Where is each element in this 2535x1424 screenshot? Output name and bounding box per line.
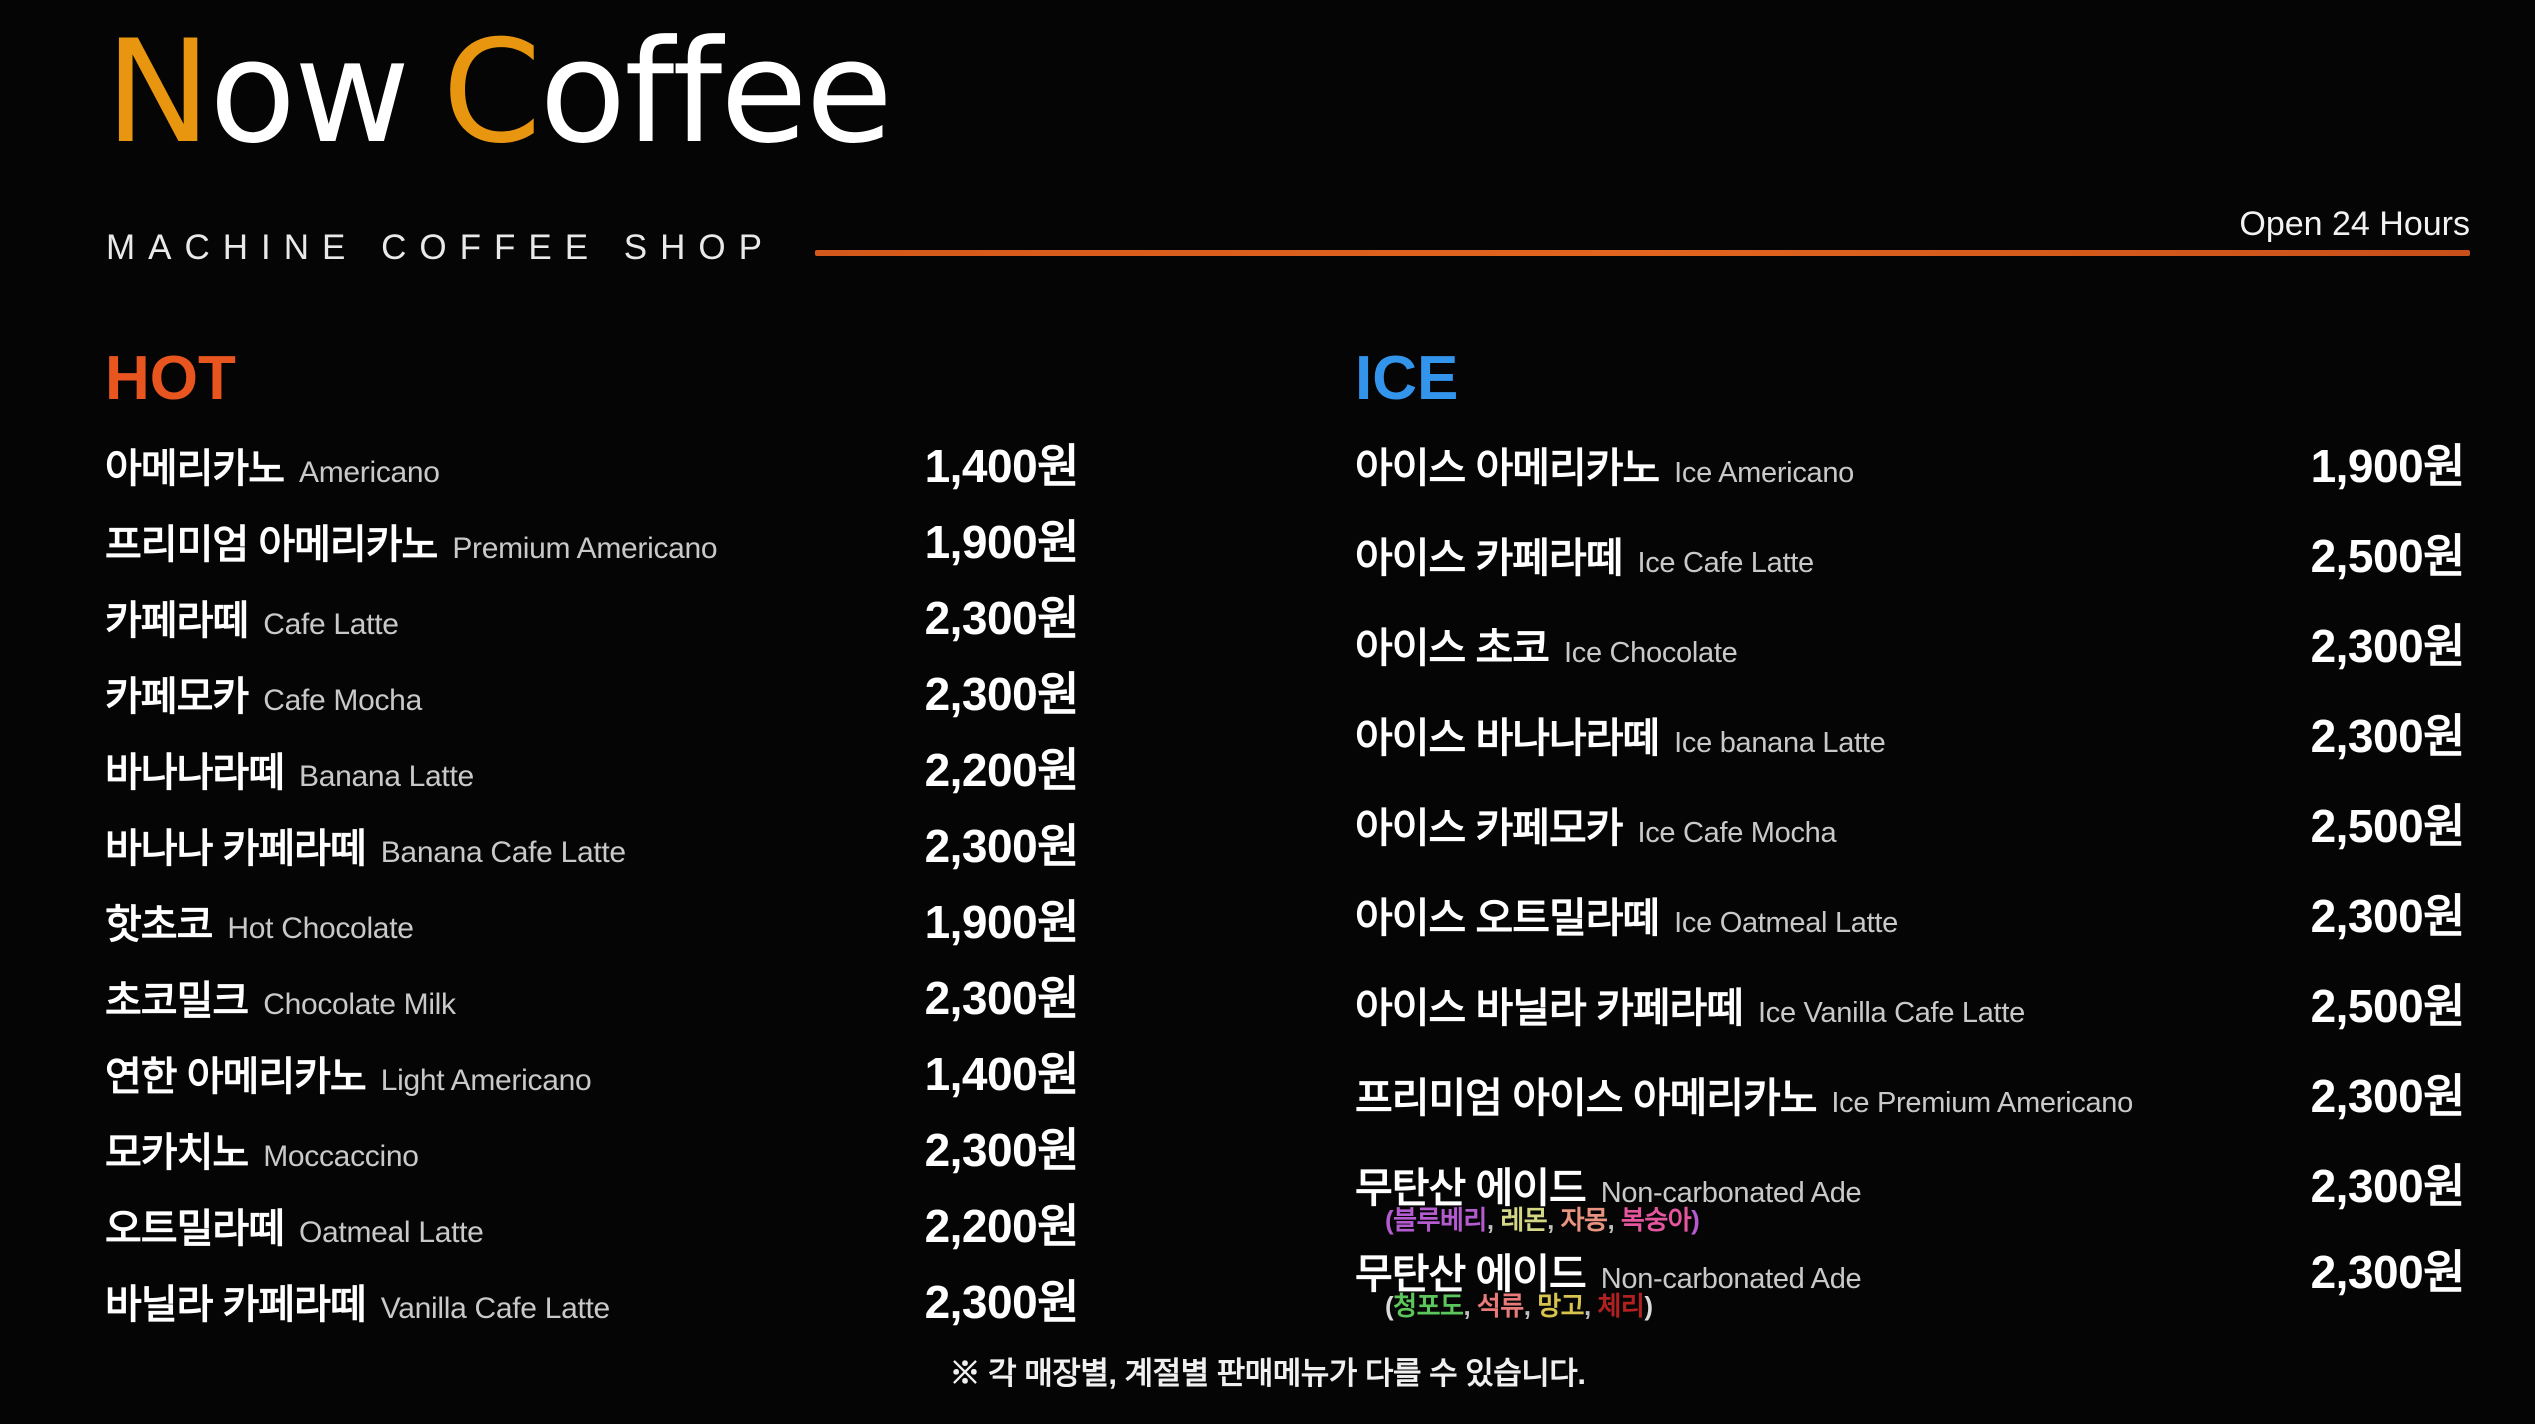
menu-item-name-en: Premium Americano	[452, 532, 717, 566]
menu-item-price: 2,500원	[2250, 970, 2465, 1036]
menu-item-price: 2,300원	[869, 1114, 1079, 1180]
menu-row: 프리미엄 아이스 아메리카노Ice Premium Americano2,300…	[1355, 1060, 2465, 1150]
ade-flavor: 망고	[1537, 1291, 1584, 1321]
ice-section-title: ICE	[1355, 348, 2465, 410]
menu-item-name-kr: 프리미엄 아메리카노	[105, 512, 437, 570]
menu-item-name-kr: 바나나라떼	[105, 740, 284, 798]
flavor-separator: ,	[1584, 1291, 1597, 1321]
menu-item-names: 아이스 바닐라 카페라떼Ice Vanilla Cafe Latte	[1355, 974, 2250, 1034]
menu-row: 바나나 카페라떼Banana Cafe Latte2,300원	[105, 810, 1165, 886]
menu-item-name-en: Ice Vanilla Cafe Latte	[1758, 997, 2025, 1030]
menu-item-price: 2,300원	[869, 582, 1079, 648]
menu-item-name-en: Ice Chocolate	[1564, 637, 1737, 670]
menu-item-names: 아이스 초코Ice Chocolate	[1355, 614, 2250, 674]
menu-item-name-en: Vanilla Cafe Latte	[381, 1292, 610, 1326]
hot-column: HOT 아메리카노Americano1,400원프리미엄 아메리카노Premiu…	[105, 348, 1165, 1342]
menu-header: NowCoffee MACHINE COFFEE SHOP Open 24 Ho…	[0, 0, 2535, 300]
menu-board: NowCoffee MACHINE COFFEE SHOP Open 24 Ho…	[0, 0, 2535, 1424]
menu-item-name-kr: 카페라떼	[105, 588, 248, 646]
menu-item-name-kr: 아이스 초코	[1355, 614, 1549, 674]
menu-row: 아이스 바나나라떼Ice banana Latte2,300원	[1355, 700, 2465, 790]
menu-item-name-en: Ice Cafe Latte	[1637, 547, 1813, 580]
menu-item-name-kr: 바닐라 카페라떼	[105, 1272, 366, 1330]
menu-item-name-en: Moccaccino	[263, 1140, 418, 1174]
flavor-separator: ,	[1607, 1205, 1620, 1235]
logo-text-offee: offee	[539, 10, 891, 175]
menu-row: 프리미엄 아메리카노Premium Americano1,900원	[105, 506, 1165, 582]
menu-item-price: 2,300원	[2250, 610, 2465, 676]
flavor-separator: ,	[1487, 1205, 1500, 1235]
menu-item-name-kr: 아이스 바닐라 카페라떼	[1355, 974, 1743, 1034]
menu-item-names: 오트밀라떼Oatmeal Latte	[105, 1196, 869, 1254]
menu-item-name-kr: 아이스 카페라떼	[1355, 524, 1622, 584]
menu-row: 아이스 오트밀라떼Ice Oatmeal Latte2,300원	[1355, 880, 2465, 970]
ade-flavor: 자몽	[1561, 1205, 1608, 1235]
menu-item-name-en: Cafe Latte	[263, 608, 398, 642]
menu-item-price: 1,900원	[2250, 430, 2465, 496]
paren-close: )	[1691, 1205, 1699, 1235]
hot-section-title: HOT	[105, 348, 1165, 410]
menu-item-name-kr: 아이스 아메리카노	[1355, 434, 1659, 494]
menu-row: 바닐라 카페라떼Vanilla Cafe Latte2,300원	[105, 1266, 1165, 1342]
menu-item-name-en: Oatmeal Latte	[299, 1216, 484, 1250]
menu-item-price: 2,300원	[2250, 1060, 2465, 1126]
menu-row: 바나나라떼Banana Latte2,200원	[105, 734, 1165, 810]
menu-row: 아이스 카페모카Ice Cafe Mocha2,500원	[1355, 790, 2465, 880]
menu-item-name-kr: 연한 아메리카노	[105, 1044, 366, 1102]
menu-item-name-en: Ice Oatmeal Latte	[1674, 907, 1898, 940]
menu-item-name-kr: 바나나 카페라떼	[105, 816, 366, 874]
menu-item-names: 아이스 바나나라떼Ice banana Latte	[1355, 704, 2250, 764]
menu-item-names: 아이스 아메리카노Ice Americano	[1355, 434, 2250, 494]
ade-flavor: 체리	[1597, 1291, 1644, 1321]
menu-item-names: 무탄산 에이드Non-carbonated Ade(블루베리, 레몬, 자몽, …	[1355, 1154, 2250, 1248]
menu-item-names: 초코밀크Chocolate Milk	[105, 968, 869, 1026]
ade-flavor-list: (블루베리, 레몬, 자몽, 복숭아)	[1385, 1200, 1699, 1237]
ade-flavor-list: (청포도, 석류, 망고, 체리)	[1385, 1286, 1653, 1323]
menu-item-name-kr: 아이스 바나나라떼	[1355, 704, 1659, 764]
menu-item-price: 2,200원	[869, 1190, 1079, 1256]
menu-item-names: 프리미엄 아이스 아메리카노Ice Premium Americano	[1355, 1064, 2250, 1124]
menu-item-names: 핫초코Hot Chocolate	[105, 892, 869, 950]
menu-item-names: 연한 아메리카노Light Americano	[105, 1044, 869, 1102]
ade-flavor: 블루베리	[1393, 1205, 1487, 1235]
menu-row: 카페라떼Cafe Latte2,300원	[105, 582, 1165, 658]
menu-item-name-kr: 프리미엄 아이스 아메리카노	[1355, 1064, 1816, 1124]
menu-row: 아이스 카페라떼Ice Cafe Latte2,500원	[1355, 520, 2465, 610]
ade-flavor: 레몬	[1500, 1205, 1547, 1235]
menu-item-name-en: Cafe Mocha	[263, 684, 422, 718]
menu-item-name-en: Ice Americano	[1674, 457, 1854, 490]
menu-item-price: 2,300원	[869, 810, 1079, 876]
menu-item-names: 프리미엄 아메리카노Premium Americano	[105, 512, 869, 570]
menu-item-price: 1,900원	[869, 886, 1079, 952]
menu-item-name-kr: 모카치노	[105, 1120, 248, 1178]
menu-row: 무탄산 에이드Non-carbonated Ade(블루베리, 레몬, 자몽, …	[1355, 1150, 2465, 1236]
menu-row: 모카치노Moccaccino2,300원	[105, 1114, 1165, 1190]
menu-row: 아이스 바닐라 카페라떼Ice Vanilla Cafe Latte2,500원	[1355, 970, 2465, 1060]
brand-tagline: MACHINE COFFEE SHOP	[106, 228, 775, 268]
menu-row: 카페모카Cafe Mocha2,300원	[105, 658, 1165, 734]
menu-item-price: 1,900원	[869, 506, 1079, 572]
logo-letter-c: C	[442, 10, 539, 175]
flavor-separator: ,	[1524, 1291, 1537, 1321]
menu-item-name-kr: 아이스 오트밀라떼	[1355, 884, 1659, 944]
menu-item-name-kr: 아메리카노	[105, 436, 284, 494]
menu-item-price: 2,300원	[869, 658, 1079, 724]
menu-item-price: 2,300원	[869, 1266, 1079, 1332]
menu-item-names: 아이스 카페모카Ice Cafe Mocha	[1355, 794, 2250, 854]
flavor-separator: ,	[1547, 1205, 1560, 1235]
menu-item-name-en: Americano	[299, 456, 440, 490]
menu-row: 오트밀라떼Oatmeal Latte2,200원	[105, 1190, 1165, 1266]
menu-row: 아메리카노Americano1,400원	[105, 430, 1165, 506]
hot-item-list: 아메리카노Americano1,400원프리미엄 아메리카노Premium Am…	[105, 430, 1165, 1342]
menu-item-names: 무탄산 에이드Non-carbonated Ade(청포도, 석류, 망고, 체…	[1355, 1240, 2250, 1334]
menu-item-names: 모카치노Moccaccino	[105, 1120, 869, 1178]
menu-row: 핫초코Hot Chocolate1,900원	[105, 886, 1165, 962]
menu-item-name-en: Ice Premium Americano	[1831, 1087, 2133, 1120]
menu-row: 무탄산 에이드Non-carbonated Ade(청포도, 석류, 망고, 체…	[1355, 1236, 2465, 1322]
brand-logo: NowCoffee	[105, 22, 891, 164]
logo-letter-n: N	[105, 10, 209, 175]
menu-item-names: 카페모카Cafe Mocha	[105, 664, 869, 722]
menu-item-price: 2,300원	[2250, 880, 2465, 946]
menu-item-names: 아이스 오트밀라떼Ice Oatmeal Latte	[1355, 884, 2250, 944]
menu-item-name-en: Banana Latte	[299, 760, 474, 794]
menu-item-names: 바나나 카페라떼Banana Cafe Latte	[105, 816, 869, 874]
menu-item-price: 2,300원	[2250, 1236, 2465, 1302]
ade-flavor: 복숭아	[1621, 1205, 1691, 1235]
menu-item-names: 아이스 카페라떼Ice Cafe Latte	[1355, 524, 2250, 584]
menu-item-name-en: Ice banana Latte	[1674, 727, 1885, 760]
menu-item-name-kr: 아이스 카페모카	[1355, 794, 1622, 854]
menu-row: 초코밀크Chocolate Milk2,300원	[105, 962, 1165, 1038]
menu-row: 연한 아메리카노Light Americano1,400원	[105, 1038, 1165, 1114]
ade-flavor: 석류	[1477, 1291, 1524, 1321]
menu-item-name-kr: 초코밀크	[105, 968, 248, 1026]
menu-item-name-en: Ice Cafe Mocha	[1637, 817, 1836, 850]
menu-row: 아이스 초코Ice Chocolate2,300원	[1355, 610, 2465, 700]
paren-open: (	[1385, 1205, 1393, 1235]
menu-item-price: 1,400원	[869, 430, 1079, 496]
menu-item-price: 1,400원	[869, 1038, 1079, 1104]
logo-text-ow: ow	[209, 10, 408, 175]
menu-item-name-en: Banana Cafe Latte	[381, 836, 626, 870]
menu-item-price: 2,500원	[2250, 520, 2465, 586]
menu-item-price: 2,300원	[2250, 1150, 2465, 1216]
menu-item-name-en: Hot Chocolate	[227, 912, 413, 946]
menu-item-name-kr: 핫초코	[105, 892, 212, 950]
menu-item-name-kr: 카페모카	[105, 664, 248, 722]
menu-item-names: 바나나라떼Banana Latte	[105, 740, 869, 798]
paren-close: )	[1644, 1291, 1652, 1321]
menu-item-name-kr: 오트밀라떼	[105, 1196, 284, 1254]
menu-item-names: 바닐라 카페라떼Vanilla Cafe Latte	[105, 1272, 869, 1330]
menu-item-name-en: Light Americano	[381, 1064, 592, 1098]
footer-note: ※ 각 매장별, 계절별 판매메뉴가 다를 수 있습니다.	[0, 1348, 2535, 1393]
open-hours-label: Open 24 Hours	[2239, 205, 2470, 244]
menu-item-names: 아메리카노Americano	[105, 436, 869, 494]
ice-item-list: 아이스 아메리카노Ice Americano1,900원아이스 카페라떼Ice …	[1355, 430, 2465, 1322]
menu-item-price: 2,200원	[869, 734, 1079, 800]
menu-item-names: 카페라떼Cafe Latte	[105, 588, 869, 646]
menu-item-price: 2,500원	[2250, 790, 2465, 856]
ade-flavor: 청포도	[1393, 1291, 1463, 1321]
menu-item-price: 2,300원	[2250, 700, 2465, 766]
paren-open: (	[1385, 1291, 1393, 1321]
ice-column: ICE 아이스 아메리카노Ice Americano1,900원아이스 카페라떼…	[1355, 348, 2465, 1322]
menu-row: 아이스 아메리카노Ice Americano1,900원	[1355, 430, 2465, 520]
menu-item-name-en: Chocolate Milk	[263, 988, 456, 1022]
header-divider-line	[815, 250, 2470, 256]
menu-item-price: 2,300원	[869, 962, 1079, 1028]
flavor-separator: ,	[1463, 1291, 1476, 1321]
